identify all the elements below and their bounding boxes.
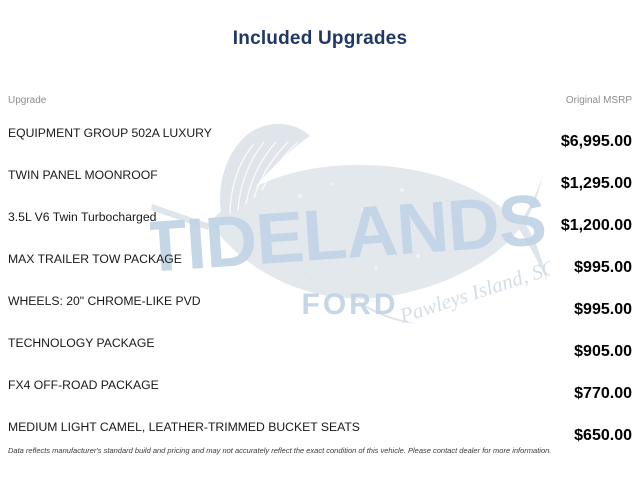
upgrade-price: $6,995.00 [561, 133, 632, 151]
table-header-row: Upgrade Original MSRP [8, 95, 632, 112]
table-row: WHEELS: 20" CHROME-LIKE PVD $995.00 [8, 280, 632, 322]
table-row: MEDIUM LIGHT CAMEL, LEATHER-TRIMMED BUCK… [8, 406, 632, 448]
table-row: TECHNOLOGY PACKAGE $905.00 [8, 322, 632, 364]
upgrade-name: MEDIUM LIGHT CAMEL, LEATHER-TRIMMED BUCK… [8, 420, 428, 435]
upgrade-name: TECHNOLOGY PACKAGE [8, 336, 428, 351]
upgrade-price: $995.00 [574, 301, 632, 319]
upgrades-table: Upgrade Original MSRP EQUIPMENT GROUP 50… [8, 95, 632, 448]
table-row: FX4 OFF-ROAD PACKAGE $770.00 [8, 364, 632, 406]
upgrade-name: WHEELS: 20" CHROME-LIKE PVD [8, 294, 428, 309]
column-header-upgrade: Upgrade [8, 95, 46, 106]
upgrade-price: $995.00 [574, 259, 632, 277]
upgrade-price: $770.00 [574, 385, 632, 403]
disclaimer-text: Data reflects manufacturer's standard bu… [8, 446, 632, 456]
upgrade-price: $1,200.00 [561, 217, 632, 235]
upgrade-price: $905.00 [574, 343, 632, 361]
upgrade-name: FX4 OFF-ROAD PACKAGE [8, 378, 428, 393]
upgrade-name: TWIN PANEL MOONROOF [8, 168, 428, 183]
upgrade-price: $650.00 [574, 427, 632, 445]
table-row: 3.5L V6 Twin Turbocharged $1,200.00 [8, 196, 632, 238]
page-title: Included Upgrades [0, 28, 640, 50]
upgrade-price: $1,295.00 [561, 175, 632, 193]
included-upgrades-page: TIDELANDS FORD Pawleys Island, SC Includ… [0, 0, 640, 480]
upgrade-name: EQUIPMENT GROUP 502A LUXURY [8, 126, 428, 141]
upgrade-name: 3.5L V6 Twin Turbocharged [8, 210, 428, 225]
upgrade-name: MAX TRAILER TOW PACKAGE [8, 252, 428, 267]
table-row: EQUIPMENT GROUP 502A LUXURY $6,995.00 [8, 112, 632, 154]
column-header-msrp: Original MSRP [566, 95, 632, 106]
table-row: TWIN PANEL MOONROOF $1,295.00 [8, 154, 632, 196]
table-row: MAX TRAILER TOW PACKAGE $995.00 [8, 238, 632, 280]
